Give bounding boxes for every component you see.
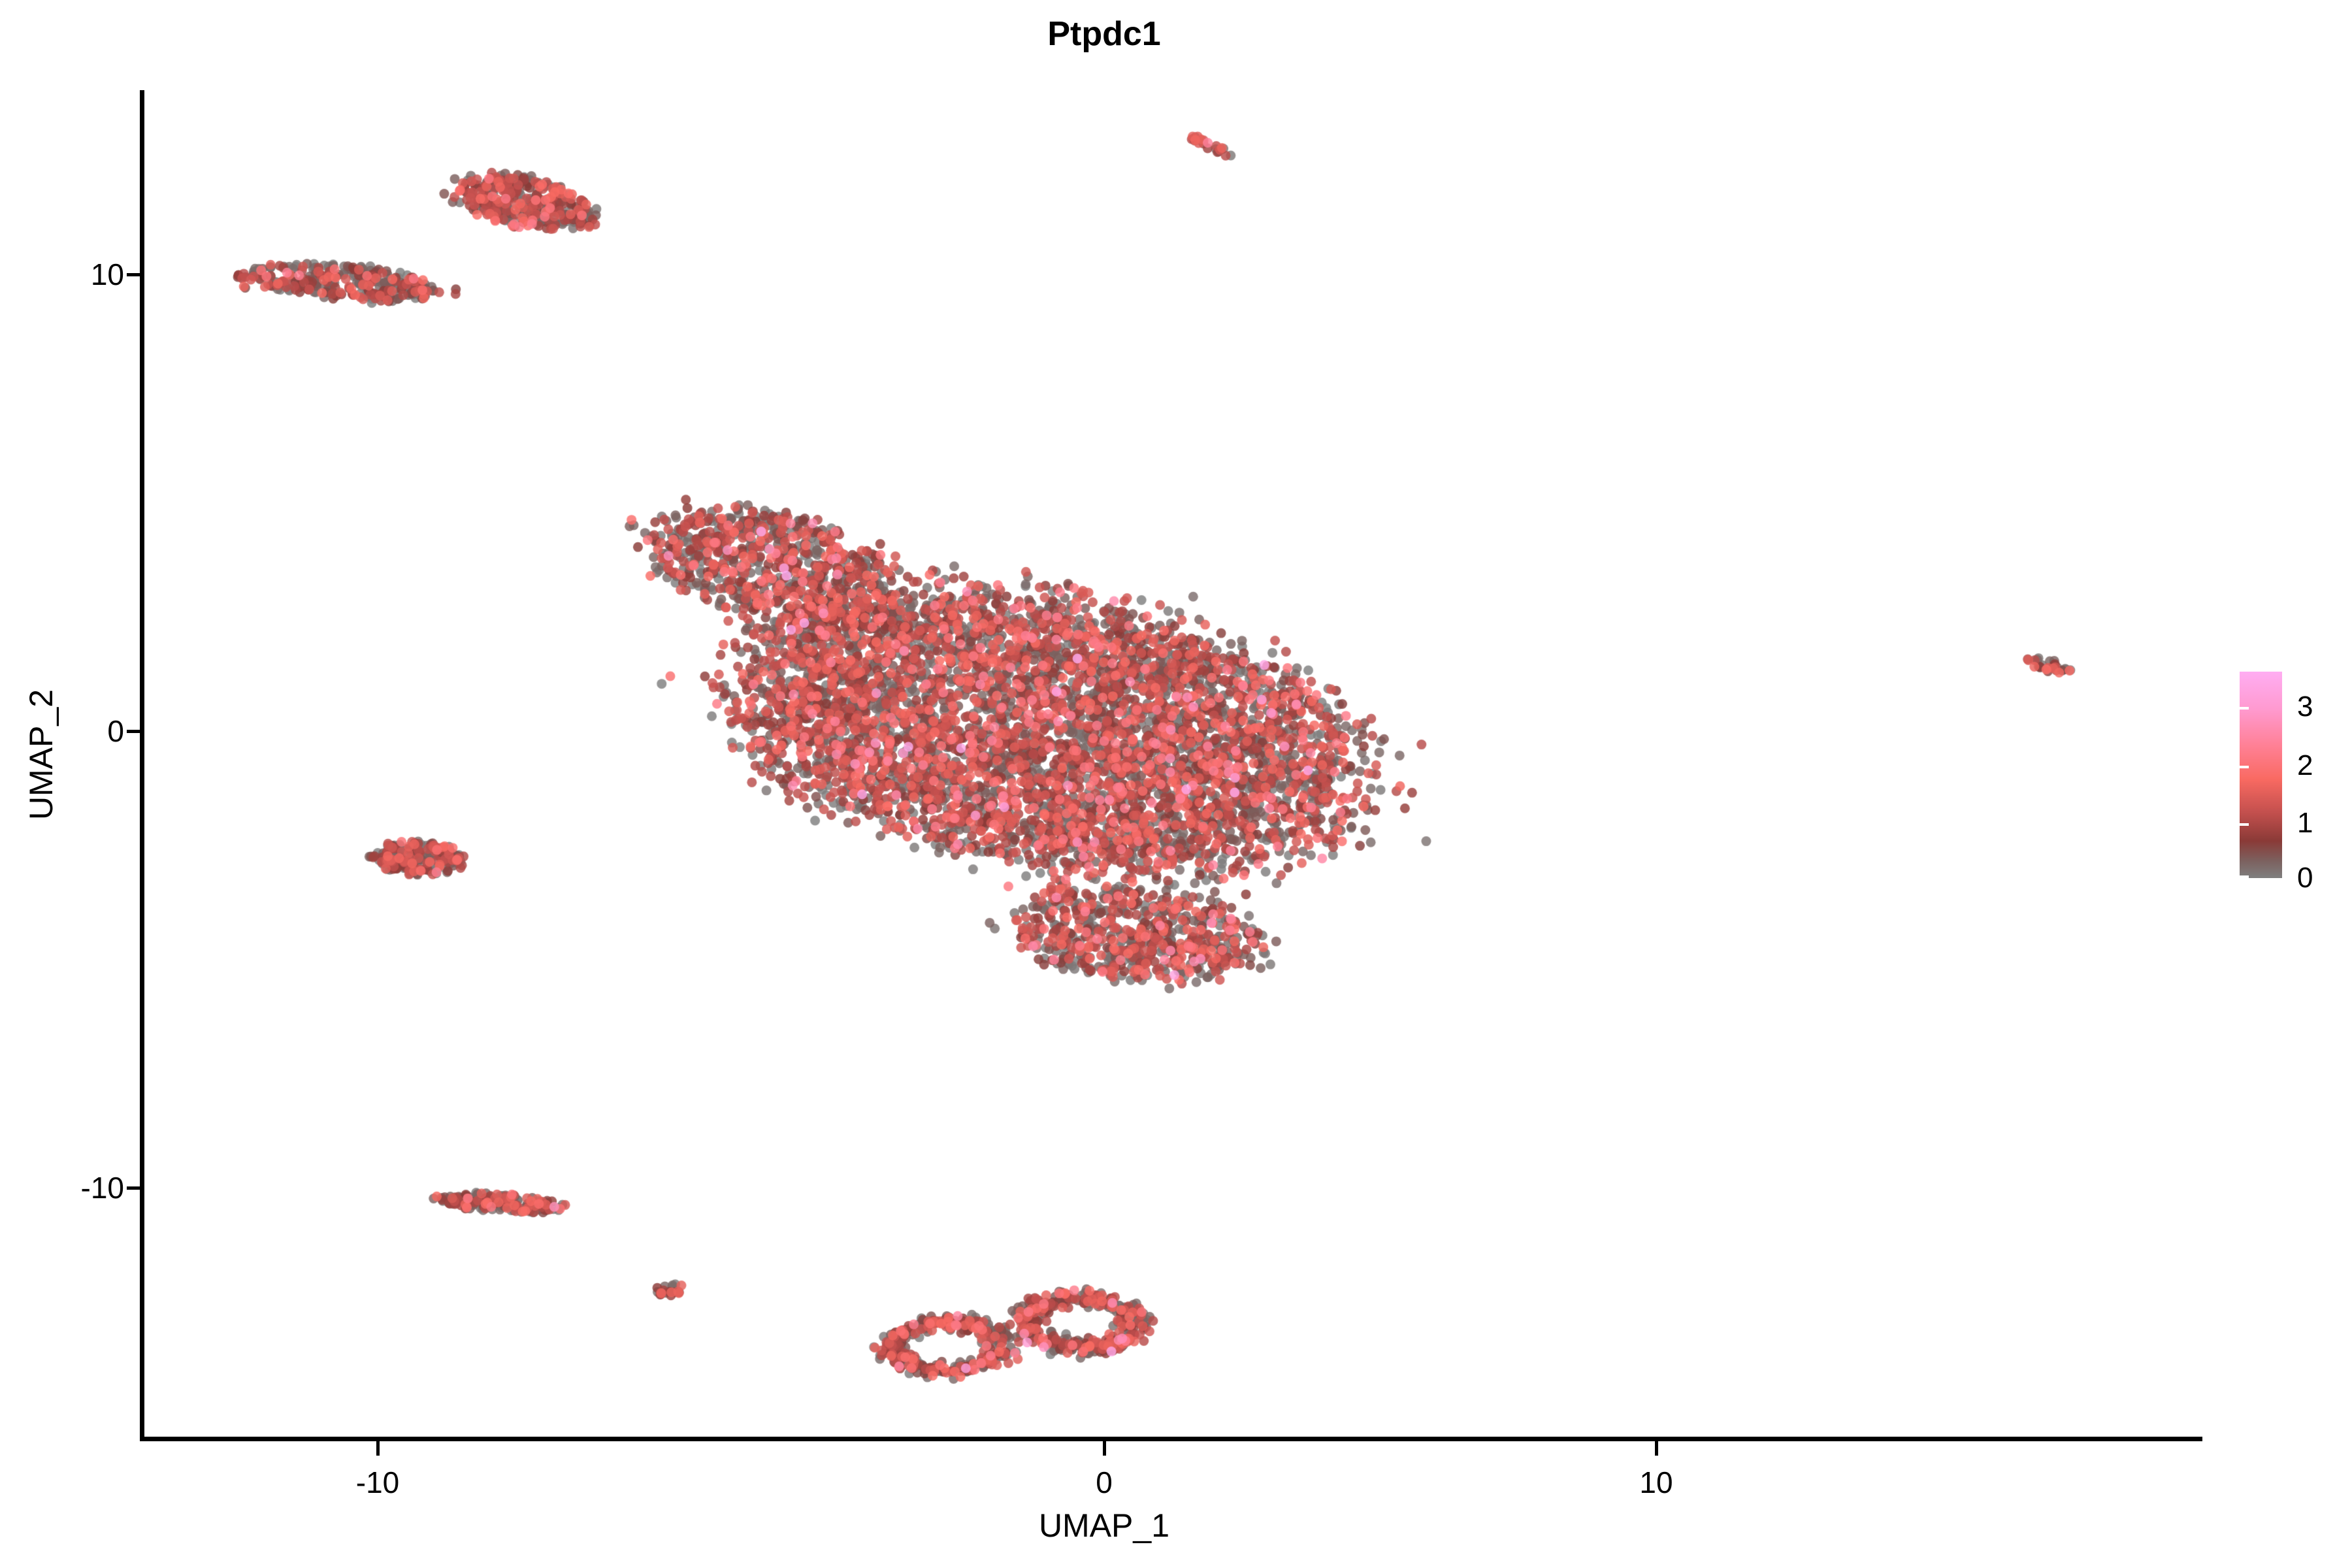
x-axis-label: UMAP_1 bbox=[0, 1507, 2208, 1544]
colorbar-tick-0-right bbox=[2328, 875, 2338, 878]
colorbar-label-2: 2 bbox=[2297, 749, 2313, 782]
x-tick-label-minus10: -10 bbox=[356, 1465, 399, 1500]
page-title: Ptpdc1 bbox=[0, 14, 2208, 54]
x-tick-mark-10 bbox=[1655, 1441, 1658, 1456]
x-axis-line bbox=[140, 1437, 2202, 1441]
colorbar-label-0: 0 bbox=[2297, 862, 2313, 894]
colorbar-tick-2-left bbox=[2240, 766, 2249, 768]
scatter-plot-panel[interactable] bbox=[144, 90, 2202, 1439]
colorbar-label-1: 1 bbox=[2297, 807, 2313, 840]
x-tick-mark-minus10 bbox=[376, 1441, 380, 1456]
y-tick-label-0: 0 bbox=[107, 713, 124, 749]
colorbar-tick-0-left bbox=[2240, 875, 2249, 878]
y-tick-label-minus10: -10 bbox=[81, 1170, 124, 1205]
colorbar-gradient[interactable] bbox=[2240, 672, 2282, 878]
colorbar-tick-3-left bbox=[2240, 707, 2249, 710]
colorbar-tick-1-left bbox=[2240, 823, 2249, 826]
colorbar-legend[interactable]: 3 2 1 0 bbox=[2240, 672, 2338, 894]
y-tick-label-10: 10 bbox=[91, 257, 124, 292]
colorbar-tick-1-right bbox=[2328, 823, 2338, 826]
colorbar-tick-2-right bbox=[2328, 766, 2338, 768]
y-tick-mark-10 bbox=[127, 273, 140, 276]
colorbar-tick-3-right bbox=[2328, 707, 2338, 710]
scatter-points-canvas[interactable] bbox=[144, 90, 2202, 1439]
plot-root: Ptpdc1 10 0 -10 -10 0 10 UMAP_1 UMAP_2 3… bbox=[0, 0, 2352, 1568]
y-axis-label: UMAP_2 bbox=[22, 395, 60, 1114]
x-tick-label-0: 0 bbox=[1096, 1465, 1113, 1500]
x-tick-mark-0 bbox=[1103, 1441, 1106, 1456]
x-tick-label-10: 10 bbox=[1639, 1465, 1673, 1500]
colorbar-label-3: 3 bbox=[2297, 691, 2313, 723]
y-tick-mark-minus10 bbox=[127, 1186, 140, 1190]
y-axis-line bbox=[140, 90, 144, 1441]
y-tick-mark-0 bbox=[127, 730, 140, 733]
